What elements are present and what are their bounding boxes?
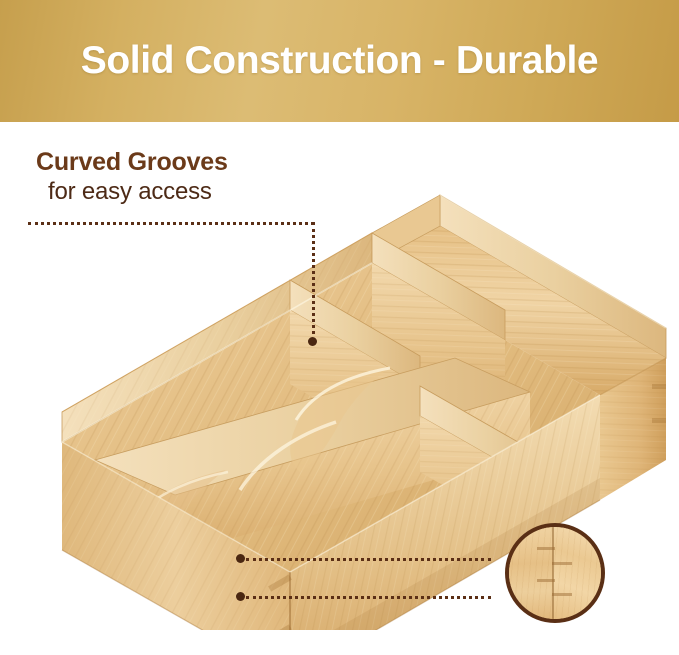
corner-detail-grain-overlay: [509, 527, 601, 619]
leader-line-curved-grooves-horizontal: [28, 222, 314, 225]
banner-title: Solid Construction - Durable: [0, 39, 679, 83]
leader-line-curved-grooves-vertical: [312, 222, 315, 341]
header-banner: Solid Construction - Durable: [0, 0, 679, 122]
product-infographic: Solid Construction - Durable: [0, 0, 679, 655]
leader-line-corner-upper: [246, 558, 491, 561]
leader-line-corner-lower: [246, 596, 491, 599]
leader-endpoint-corner-upper: [236, 554, 245, 563]
leader-endpoint-corner-lower: [236, 592, 245, 601]
label-curved-grooves: Curved Grooves: [36, 148, 228, 177]
leader-endpoint-curved-grooves: [308, 337, 317, 346]
corner-detail-callout: [505, 523, 605, 623]
label-easy-access: for easy access: [48, 178, 212, 206]
